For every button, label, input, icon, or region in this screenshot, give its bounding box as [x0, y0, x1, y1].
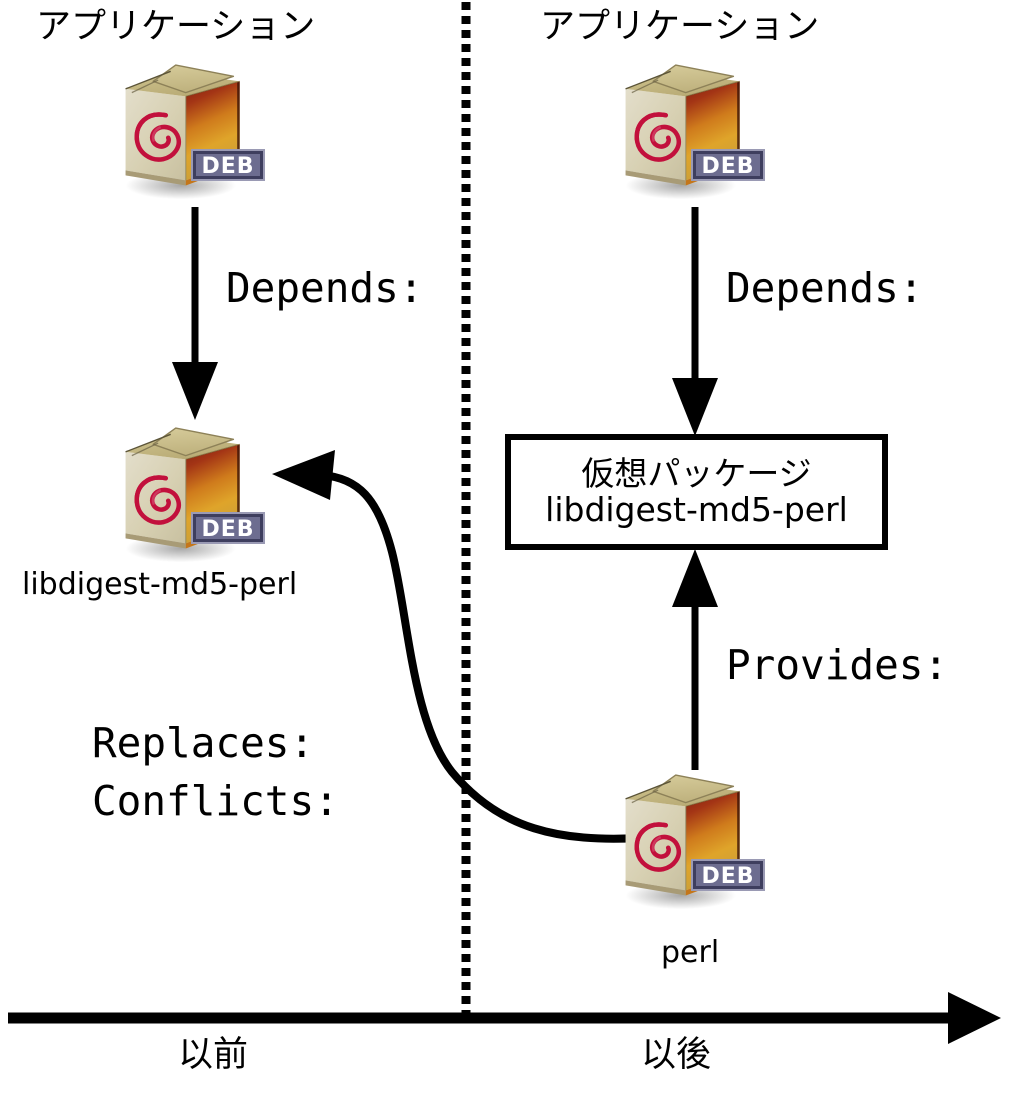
virtual-package-box: 仮想パッケージ libdigest-md5-perl — [505, 434, 888, 550]
timeline-label-after: 以後 — [641, 1038, 711, 1073]
header-application-left: アプリケーション — [36, 10, 315, 45]
virtual-package-line1: 仮想パッケージ — [581, 456, 811, 492]
label-package-perl: perl — [661, 938, 719, 968]
label-depends-left: Depends: — [226, 268, 423, 309]
label-package-libdigest-md5-perl: libdigest-md5-perl — [22, 570, 297, 600]
arrow-depends-right — [672, 207, 718, 436]
svg-text:DEB: DEB — [201, 154, 254, 179]
label-provides: Provides: — [726, 645, 948, 686]
deb-badge-libdigest: DEB — [191, 512, 265, 544]
deb-badge-app-left: DEB — [191, 149, 265, 181]
virtual-package-line2: libdigest-md5-perl — [545, 492, 848, 528]
header-application-right: アプリケーション — [540, 10, 819, 45]
timeline-axis — [8, 992, 1001, 1044]
label-conflicts: Conflicts: — [92, 781, 339, 822]
label-replaces: Replaces: — [92, 723, 314, 764]
svg-text:DEB: DEB — [201, 517, 254, 542]
label-depends-right: Depends: — [726, 268, 923, 309]
svg-text:DEB: DEB — [701, 154, 754, 179]
arrow-depends-left — [172, 207, 218, 420]
deb-badge-app-right: DEB — [691, 149, 765, 181]
diagram-canvas: DEB DEB DEB DEB アプリケーション アプリケーション Depend… — [0, 0, 1009, 1094]
svg-text:DEB: DEB — [701, 864, 754, 889]
timeline-label-before: 以前 — [178, 1038, 248, 1073]
deb-badge-perl: DEB — [691, 859, 765, 891]
arrow-provides — [672, 549, 718, 770]
